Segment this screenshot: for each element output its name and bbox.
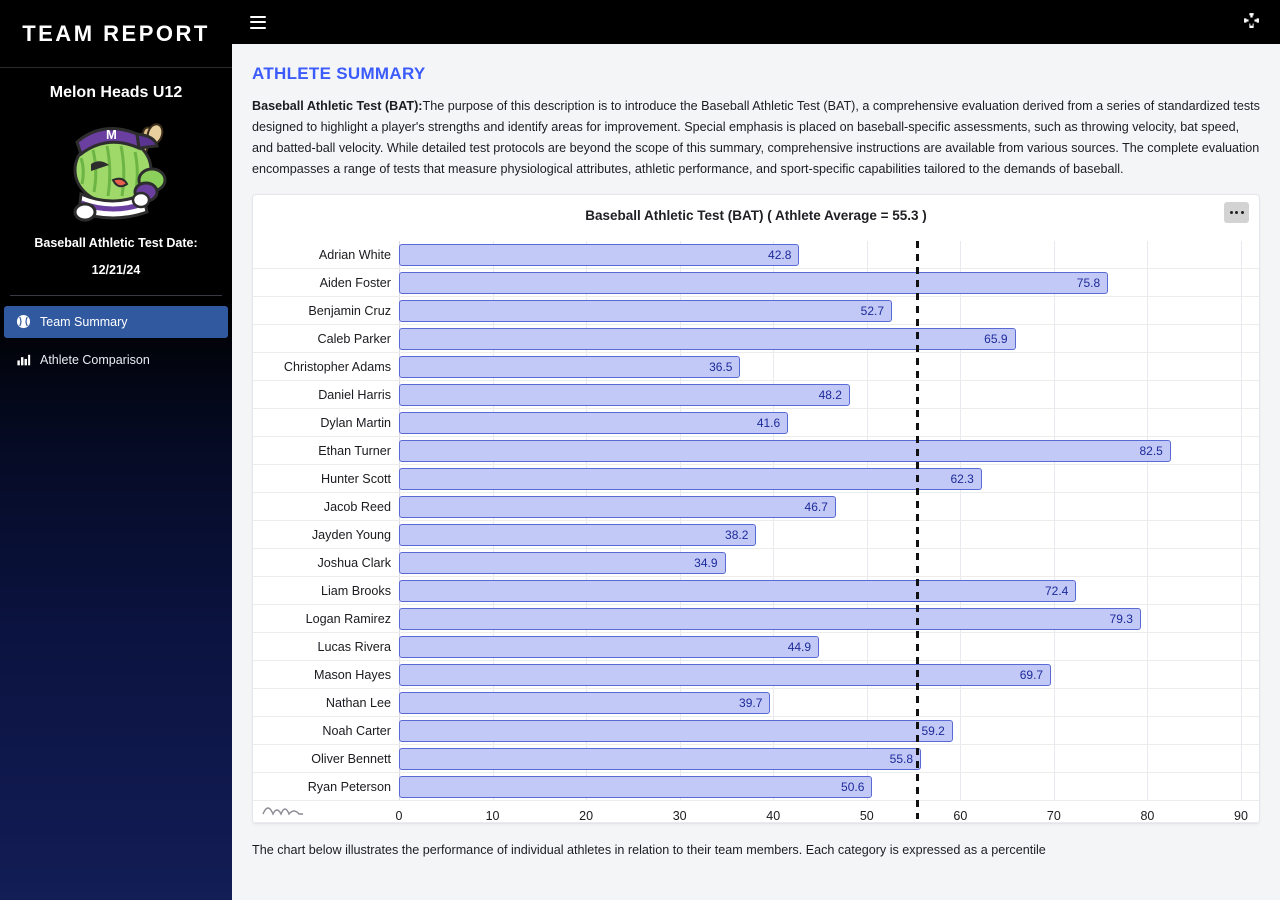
intro-paragraph: Baseball Athletic Test (BAT):The purpose… <box>252 96 1260 180</box>
chart-bar-track: 46.7 <box>399 496 1259 518</box>
chart-bar-value: 38.2 <box>725 528 755 542</box>
intro-lead: Baseball Athletic Test (BAT): <box>252 99 423 113</box>
chart-bar[interactable]: 59.2 <box>399 720 953 742</box>
chart-bar-row[interactable]: Lucas Rivera44.9 <box>253 633 1259 661</box>
sidebar-nav: Team Summary Athlete Comparison <box>0 306 232 382</box>
chart-bar[interactable]: 62.3 <box>399 468 982 490</box>
chart-bar[interactable]: 44.9 <box>399 636 819 658</box>
chart-bar[interactable]: 65.9 <box>399 328 1016 350</box>
chart-bar-row[interactable]: Dylan Martin41.6 <box>253 409 1259 437</box>
chart-bar-track: 48.2 <box>399 384 1259 406</box>
chart-bar[interactable]: 36.5 <box>399 356 740 378</box>
chart-bar-value: 72.4 <box>1045 584 1075 598</box>
sidebar-divider <box>10 295 222 296</box>
chart-category-label: Lucas Rivera <box>253 640 399 654</box>
chart-bar-track: 42.8 <box>399 244 1259 266</box>
chart-bar-track: 79.3 <box>399 608 1259 630</box>
chart-category-label: Adrian White <box>253 248 399 262</box>
chart-bar-value: 39.7 <box>739 696 769 710</box>
chart-category-label: Benjamin Cruz <box>253 304 399 318</box>
chart-bar[interactable]: 82.5 <box>399 440 1171 462</box>
chart-bar[interactable]: 41.6 <box>399 412 788 434</box>
chart-category-label: Logan Ramirez <box>253 612 399 626</box>
test-date-label: Baseball Athletic Test Date: <box>10 234 222 253</box>
chart-x-tick: 40 <box>766 809 780 823</box>
chart-category-label: Caleb Parker <box>253 332 399 346</box>
top-bar <box>232 0 1280 44</box>
chart-bar-value: 36.5 <box>709 360 739 374</box>
chart-bar-value: 48.2 <box>819 388 849 402</box>
chart-card: Baseball Athletic Test (BAT) ( Athlete A… <box>252 194 1260 824</box>
chart-bar[interactable]: 34.9 <box>399 552 726 574</box>
chart-x-tick: 90 <box>1234 809 1248 823</box>
sidebar: TEAM REPORT Melon Heads U12 M <box>0 0 232 900</box>
sidebar-item-athlete-comparison[interactable]: Athlete Comparison <box>4 344 228 376</box>
chart-bar[interactable]: 55.8 <box>399 748 921 770</box>
chart-bar[interactable]: 39.7 <box>399 692 770 714</box>
chart-x-tick: 70 <box>1047 809 1061 823</box>
chart-x-tick: 50 <box>860 809 874 823</box>
chart-bar-track: 34.9 <box>399 552 1259 574</box>
chart-x-tick: 60 <box>953 809 967 823</box>
chart-x-tick: 30 <box>673 809 687 823</box>
chart-bar-value: 52.7 <box>861 304 891 318</box>
chart-bar-value: 79.3 <box>1110 612 1140 626</box>
chart-plot: Adrian White42.8Aiden Foster75.8Benjamin… <box>253 235 1259 823</box>
chart-bar-value: 41.6 <box>757 416 787 430</box>
bottom-note: The chart below illustrates the performa… <box>252 840 1260 861</box>
chart-bar-row[interactable]: Liam Brooks72.4 <box>253 577 1259 605</box>
bar-chart-icon <box>16 352 31 367</box>
chart-bar-track: 50.6 <box>399 776 1259 798</box>
chart-bar-row[interactable]: Caleb Parker65.9 <box>253 325 1259 353</box>
chart-bar-row[interactable]: Oliver Bennett55.8 <box>253 745 1259 773</box>
chart-bar-value: 46.7 <box>805 500 835 514</box>
chart-category-label: Liam Brooks <box>253 584 399 598</box>
chart-bar-track: 41.6 <box>399 412 1259 434</box>
fullscreen-button[interactable] <box>1243 12 1260 32</box>
team-name: Melon Heads U12 <box>10 84 222 102</box>
fullscreen-expand-icon <box>1243 12 1260 32</box>
chart-x-tick: 20 <box>579 809 593 823</box>
chart-category-label: Dylan Martin <box>253 416 399 430</box>
chart-bar[interactable]: 72.4 <box>399 580 1076 602</box>
chart-bar-value: 62.3 <box>950 472 980 486</box>
chart-x-tick: 0 <box>396 809 403 823</box>
average-reference-line <box>916 241 919 819</box>
chart-category-label: Jayden Young <box>253 528 399 542</box>
chart-bar-value: 59.2 <box>921 724 951 738</box>
chart-x-tick: 10 <box>486 809 500 823</box>
svg-text:M: M <box>106 127 117 142</box>
chart-category-label: Aiden Foster <box>253 276 399 290</box>
chart-bar[interactable]: 38.2 <box>399 524 756 546</box>
chart-bar-value: 42.8 <box>768 248 798 262</box>
chart-bar-row[interactable]: Ryan Peterson50.6 <box>253 773 1259 801</box>
chart-category-label: Christopher Adams <box>253 360 399 374</box>
chart-bar[interactable]: 69.7 <box>399 664 1051 686</box>
chart-bar-row[interactable]: Benjamin Cruz52.7 <box>253 297 1259 325</box>
brand-header: TEAM REPORT <box>0 0 232 68</box>
chart-bar-track: 52.7 <box>399 300 1259 322</box>
chart-category-label: Hunter Scott <box>253 472 399 486</box>
chart-menu-button[interactable] <box>1224 202 1249 223</box>
chart-bar[interactable]: 48.2 <box>399 384 850 406</box>
kebab-menu-icon <box>1230 211 1233 214</box>
chart-title: Baseball Athletic Test (BAT) ( Athlete A… <box>253 195 1259 223</box>
chart-bar-row[interactable]: Jacob Reed46.7 <box>253 493 1259 521</box>
brand-title: TEAM REPORT <box>22 21 210 47</box>
sidebar-item-label: Athlete Comparison <box>40 353 150 367</box>
chart-bar-track: 65.9 <box>399 328 1259 350</box>
baseball-icon <box>16 314 31 329</box>
chart-bar-track: 59.2 <box>399 720 1259 742</box>
chart-bar-row[interactable]: Mason Hayes69.7 <box>253 661 1259 689</box>
chart-bar[interactable]: 50.6 <box>399 776 872 798</box>
chart-category-label: Daniel Harris <box>253 388 399 402</box>
chart-bar-row[interactable]: Aiden Foster75.8 <box>253 269 1259 297</box>
chart-bar-track: 55.8 <box>399 748 1259 770</box>
chart-bar-row[interactable]: Nathan Lee39.7 <box>253 689 1259 717</box>
chart-bar-value: 69.7 <box>1020 668 1050 682</box>
chart-x-tick: 80 <box>1140 809 1154 823</box>
chart-bar-value: 82.5 <box>1139 444 1169 458</box>
distribution-curve-icon[interactable] <box>261 799 305 817</box>
chart-category-label: Joshua Clark <box>253 556 399 570</box>
hamburger-menu-button[interactable] <box>250 16 266 29</box>
chart-category-label: Mason Hayes <box>253 668 399 682</box>
chart-x-axis: 0102030405060708090 <box>253 809 1259 831</box>
sidebar-item-label: Team Summary <box>40 315 128 329</box>
chart-bar-row[interactable]: Ethan Turner82.5 <box>253 437 1259 465</box>
chart-category-label: Noah Carter <box>253 724 399 738</box>
chart-bar-value: 50.6 <box>841 780 871 794</box>
chart-bar-row[interactable]: Daniel Harris48.2 <box>253 381 1259 409</box>
chart-bar-value: 65.9 <box>984 332 1014 346</box>
chart-bar-value: 34.9 <box>694 556 724 570</box>
chart-bar-track: 38.2 <box>399 524 1259 546</box>
chart-bar-track: 62.3 <box>399 468 1259 490</box>
chart-bar[interactable]: 42.8 <box>399 244 799 266</box>
chart-bar[interactable]: 52.7 <box>399 300 892 322</box>
chart-bar-track: 36.5 <box>399 356 1259 378</box>
content-scroll: ATHLETE SUMMARY Baseball Athletic Test (… <box>232 44 1280 900</box>
test-date-value: 12/21/24 <box>10 261 222 280</box>
chart-bar-row[interactable]: Jayden Young38.2 <box>253 521 1259 549</box>
chart-bar-track: 75.8 <box>399 272 1259 294</box>
chart-bar-track: 82.5 <box>399 440 1259 462</box>
hamburger-icon <box>250 16 266 29</box>
chart-bar[interactable]: 79.3 <box>399 608 1141 630</box>
main-area: ATHLETE SUMMARY Baseball Athletic Test (… <box>232 0 1280 900</box>
chart-bar-value: 44.9 <box>788 640 818 654</box>
chart-bar-track: 39.7 <box>399 692 1259 714</box>
chart-bar-row[interactable]: Christopher Adams36.5 <box>253 353 1259 381</box>
chart-bar-row[interactable]: Logan Ramirez79.3 <box>253 605 1259 633</box>
chart-category-label: Nathan Lee <box>253 696 399 710</box>
chart-bar-track: 69.7 <box>399 664 1259 686</box>
sidebar-item-team-summary[interactable]: Team Summary <box>4 306 228 338</box>
chart-header: Baseball Athletic Test (BAT) ( Athlete A… <box>253 195 1259 235</box>
chart-bar-row[interactable]: Hunter Scott62.3 <box>253 465 1259 493</box>
chart-bar-row[interactable]: Joshua Clark34.9 <box>253 549 1259 577</box>
chart-bar-track: 44.9 <box>399 636 1259 658</box>
chart-plot-inner: Adrian White42.8Aiden Foster75.8Benjamin… <box>253 235 1259 823</box>
team-block: Melon Heads U12 M <box>0 68 232 281</box>
chart-category-label: Jacob Reed <box>253 500 399 514</box>
chart-bar-track: 72.4 <box>399 580 1259 602</box>
app-root: TEAM REPORT Melon Heads U12 M <box>0 0 1280 900</box>
page-title: ATHLETE SUMMARY <box>252 64 1260 84</box>
chart-bar[interactable]: 46.7 <box>399 496 836 518</box>
chart-bar-row[interactable]: Noah Carter59.2 <box>253 717 1259 745</box>
chart-category-label: Ryan Peterson <box>253 780 399 794</box>
chart-footer-line <box>253 822 1259 823</box>
chart-bar[interactable]: 75.8 <box>399 272 1108 294</box>
chart-bar-row[interactable]: Adrian White42.8 <box>253 241 1259 269</box>
chart-category-label: Ethan Turner <box>253 444 399 458</box>
chart-category-label: Oliver Bennett <box>253 752 399 766</box>
chart-bar-value: 75.8 <box>1077 276 1107 290</box>
watermelon-batter-mascot-icon: M <box>51 108 181 226</box>
